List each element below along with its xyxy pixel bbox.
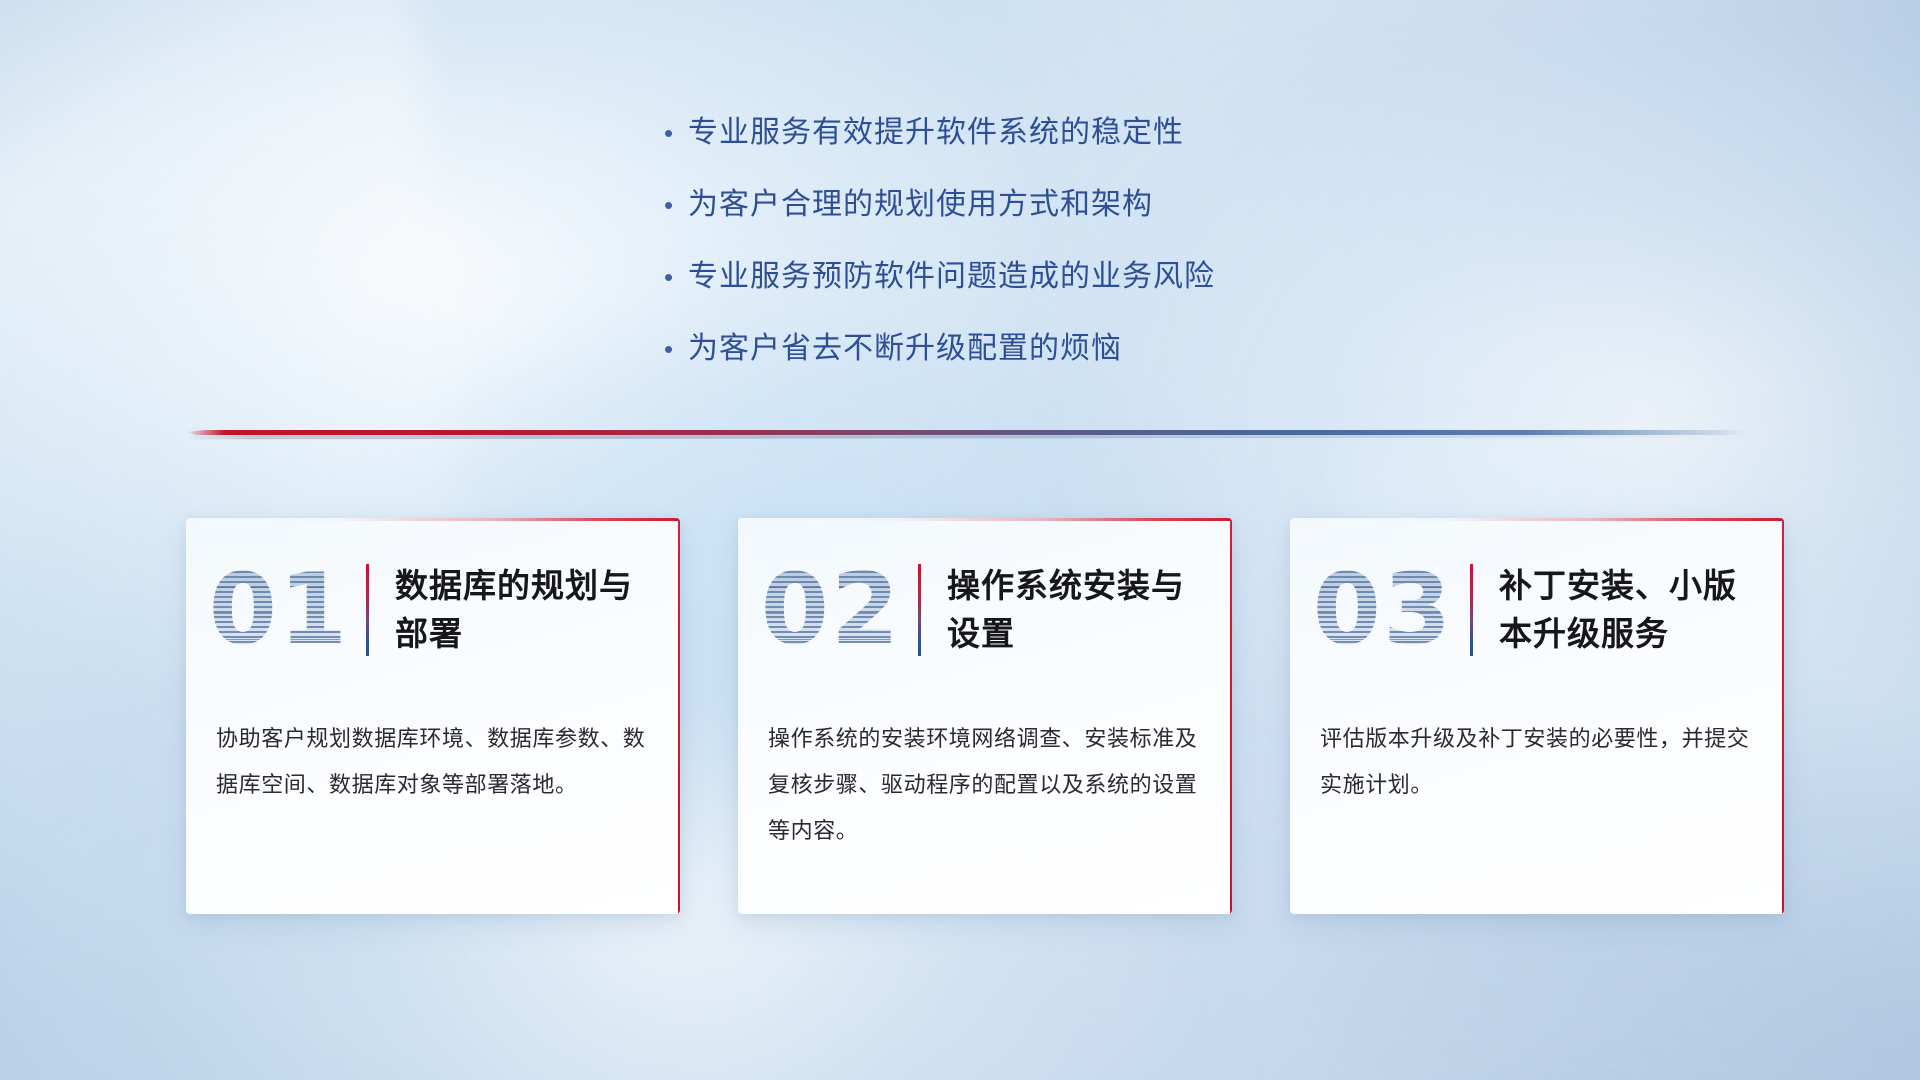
card-number: 03 03 bbox=[1304, 561, 1462, 659]
bullet-item: • 专业服务预防软件问题造成的业务风险 bbox=[660, 256, 1480, 298]
card-description: 协助客户规划数据库环境、数据库参数、数据库空间、数据库对象等部署落地。 bbox=[186, 702, 680, 808]
card-title: 数据库的规划与部署 bbox=[395, 562, 645, 658]
section-divider bbox=[186, 418, 1746, 452]
card-divider-bar bbox=[366, 564, 369, 656]
bullet-dot-icon: • bbox=[660, 112, 688, 154]
divider-arrow-shadow bbox=[186, 435, 1746, 442]
bullet-item: • 为客户合理的规划使用方式和架构 bbox=[660, 184, 1480, 226]
card-number-red-overlay: 03 bbox=[1304, 561, 1462, 659]
card-divider-bar bbox=[1470, 564, 1473, 656]
card-header: 01 01 数据库的规划与部署 bbox=[186, 518, 680, 702]
card-number-red-overlay: 01 bbox=[200, 561, 358, 659]
card-description: 操作系统的安装环境网络调查、安装标准及复核步骤、驱动程序的配置以及系统的设置等内… bbox=[738, 702, 1232, 854]
service-card-02[interactable]: 02 02 操作系统安装与设置 操作系统的安装环境网络调查、安装标准及复核步骤、… bbox=[738, 518, 1232, 914]
card-number: 02 02 bbox=[752, 561, 910, 659]
service-card-03[interactable]: 03 03 补丁安装、小版本升级服务 评估版本升级及补丁安装的必要性，并提交实施… bbox=[1290, 518, 1784, 914]
card-number: 01 01 bbox=[200, 561, 358, 659]
bullet-dot-icon: • bbox=[660, 184, 688, 226]
bullet-text: 专业服务有效提升软件系统的稳定性 bbox=[688, 112, 1184, 154]
card-title: 补丁安装、小版本升级服务 bbox=[1499, 562, 1749, 658]
slide-canvas: • 专业服务有效提升软件系统的稳定性 • 为客户合理的规划使用方式和架构 • 专… bbox=[0, 0, 1920, 1080]
bullet-item: • 为客户省去不断升级配置的烦恼 bbox=[660, 328, 1480, 370]
divider-arrow-top bbox=[186, 430, 1746, 435]
card-description: 评估版本升级及补丁安装的必要性，并提交实施计划。 bbox=[1290, 702, 1784, 808]
bullet-text: 专业服务预防软件问题造成的业务风险 bbox=[688, 256, 1215, 298]
bullet-item: • 专业服务有效提升软件系统的稳定性 bbox=[660, 112, 1480, 154]
card-divider-bar bbox=[918, 564, 921, 656]
bullet-text: 为客户合理的规划使用方式和架构 bbox=[688, 184, 1153, 226]
card-header: 02 02 操作系统安装与设置 bbox=[738, 518, 1232, 702]
bullet-text: 为客户省去不断升级配置的烦恼 bbox=[688, 328, 1122, 370]
benefits-bullet-list: • 专业服务有效提升软件系统的稳定性 • 为客户合理的规划使用方式和架构 • 专… bbox=[660, 112, 1480, 400]
bullet-dot-icon: • bbox=[660, 328, 688, 370]
service-card-01[interactable]: 01 01 数据库的规划与部署 协助客户规划数据库环境、数据库参数、数据库空间、… bbox=[186, 518, 680, 914]
card-header: 03 03 补丁安装、小版本升级服务 bbox=[1290, 518, 1784, 702]
bullet-dot-icon: • bbox=[660, 256, 688, 298]
card-title: 操作系统安装与设置 bbox=[947, 562, 1197, 658]
service-card-group: 01 01 数据库的规划与部署 协助客户规划数据库环境、数据库参数、数据库空间、… bbox=[186, 518, 1786, 914]
card-number-red-overlay: 02 bbox=[752, 561, 910, 659]
